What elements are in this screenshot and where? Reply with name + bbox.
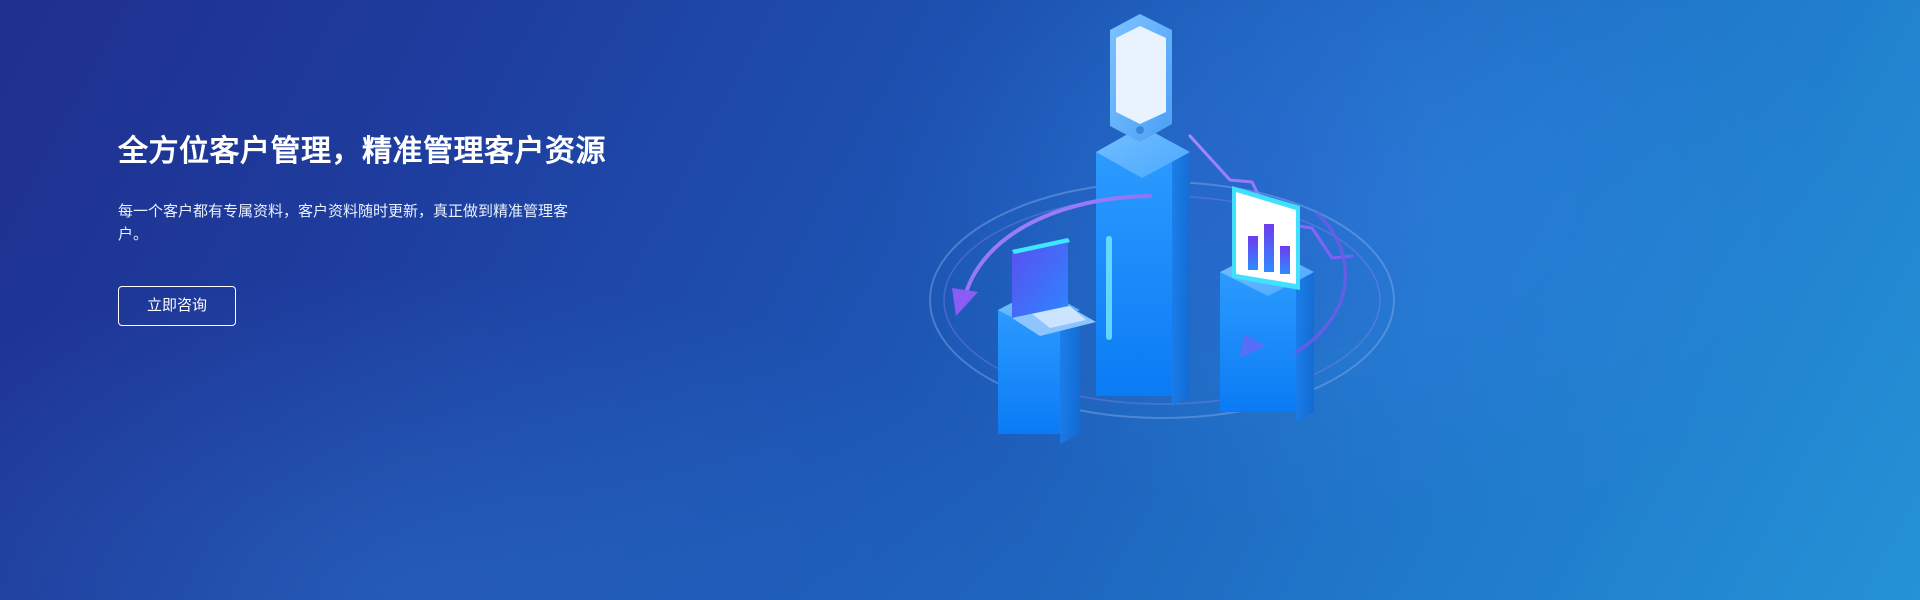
tablet-icon <box>1110 14 1172 142</box>
pedestal-left-laptop <box>998 238 1096 444</box>
pedestal-right-monitor <box>1220 186 1314 422</box>
chart-bar-3 <box>1280 246 1290 274</box>
hero-banner: 全方位客户管理，精准管理客户资源 每一个客户都有专属资料，客户资料随时更新，真正… <box>0 0 1920 600</box>
chart-bar-1 <box>1248 236 1258 270</box>
page-title: 全方位客户管理，精准管理客户资源 <box>118 132 758 172</box>
hero-copy-block: 全方位客户管理，精准管理客户资源 每一个客户都有专属资料，客户资料随时更新，真正… <box>118 132 758 326</box>
hero-illustration <box>900 0 1400 600</box>
pedestal-center-tablet <box>1096 14 1190 406</box>
consult-now-button[interactable]: 立即咨询 <box>118 286 236 326</box>
laptop-icon <box>1012 238 1096 336</box>
chart-bar-2 <box>1264 224 1274 272</box>
hero-subtitle: 每一个客户都有专属资料，客户资料随时更新，真正做到精准管理客户。 <box>118 200 596 246</box>
